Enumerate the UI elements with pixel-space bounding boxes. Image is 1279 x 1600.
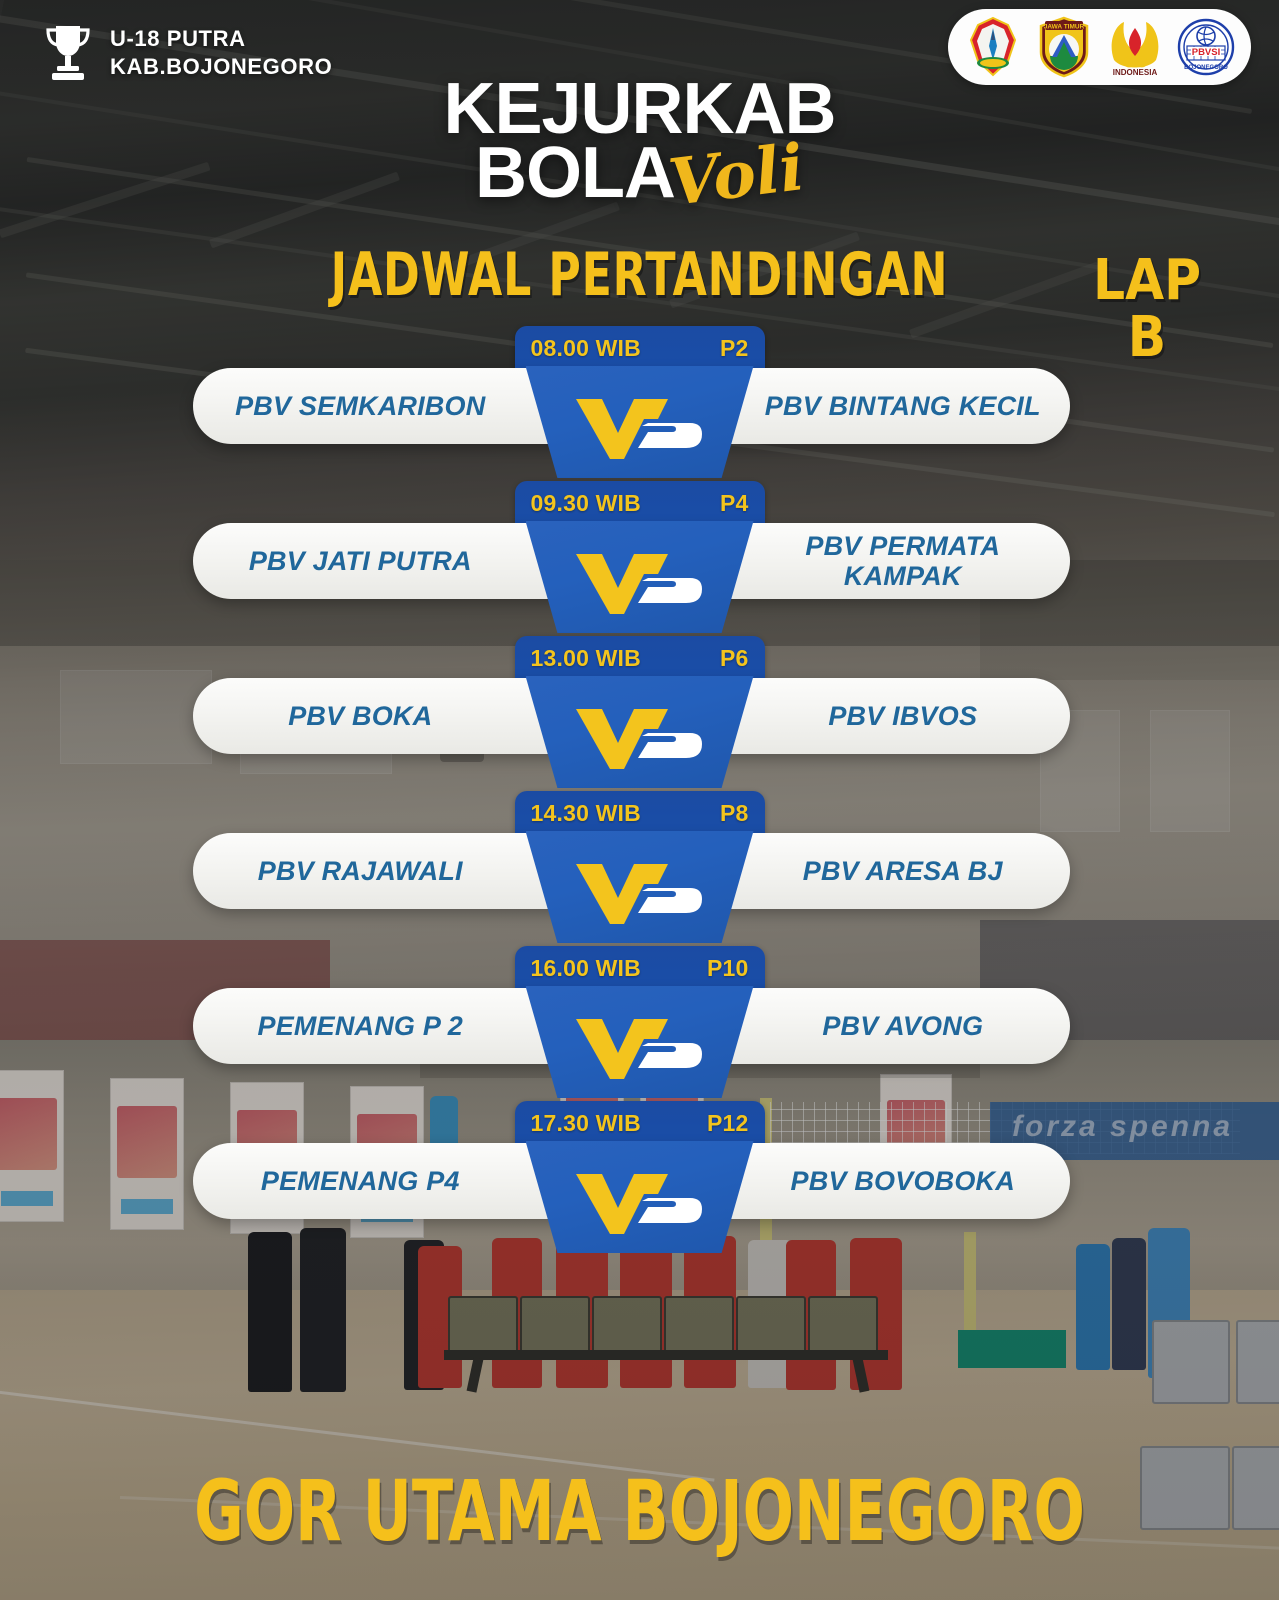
match-tab: 16.00 WIB P10 <box>515 946 765 990</box>
vs-badge <box>526 1141 754 1253</box>
category-line-2: KAB.BOJONEGORO <box>110 53 332 81</box>
match-row[interactable]: 09.30 WIB P4 PBV JATI PUTRA PBV PERMATA … <box>0 481 1279 636</box>
match-time: 09.30 WIB <box>531 490 641 517</box>
vs-badge <box>526 676 754 788</box>
match-tab: 14.30 WIB P8 <box>515 791 765 835</box>
vs-logo-icon <box>574 854 706 928</box>
match-row[interactable]: 13.00 WIB P6 PBV BOKA PBV IBVOS <box>0 636 1279 791</box>
svg-text:BOJONEGORO: BOJONEGORO <box>1184 65 1228 71</box>
match-tab: 08.00 WIB P2 <box>515 326 765 370</box>
logo-pbvsi-bojonegoro: PBVSI BOJONEGORO <box>1177 16 1235 78</box>
match-time: 16.00 WIB <box>531 955 641 982</box>
svg-text:INDONESIA: INDONESIA <box>1113 68 1158 77</box>
vs-badge <box>526 521 754 633</box>
title-line-2: BOLA <box>475 140 675 208</box>
logo-jawa-timur: JAWA TIMUR <box>1035 16 1093 78</box>
svg-text:PBVSI: PBVSI <box>1192 47 1221 58</box>
vs-logo-icon <box>574 1009 706 1083</box>
vs-logo-icon <box>574 699 706 773</box>
logo-kabupaten-bojonegoro <box>964 16 1022 78</box>
match-time: 13.00 WIB <box>531 645 641 672</box>
trophy-icon <box>40 22 96 84</box>
match-tab: 09.30 WIB P4 <box>515 481 765 525</box>
venue-name: GOR UTAMA BOJONEGORO <box>128 1462 1151 1560</box>
match-code: P2 <box>720 335 749 362</box>
match-schedule-list: 08.00 WIB P2 PBV SEMKARIBON PBV BINTANG … <box>0 326 1279 1256</box>
match-row[interactable]: 08.00 WIB P2 PBV SEMKARIBON PBV BINTANG … <box>0 326 1279 481</box>
poster-title: KEJURKAB BOLA Voli <box>0 76 1279 207</box>
match-code: P12 <box>707 1110 749 1137</box>
match-code: P6 <box>720 645 749 672</box>
title-script-voli: Voli <box>666 142 806 209</box>
svg-text:JAWA TIMUR: JAWA TIMUR <box>1044 24 1085 31</box>
category-line-1: U-18 PUTRA <box>110 25 332 53</box>
vs-badge <box>526 986 754 1098</box>
header-category: U-18 PUTRA KAB.BOJONEGORO <box>40 22 332 84</box>
match-code: P4 <box>720 490 749 517</box>
match-row[interactable]: 16.00 WIB P10 PEMENANG P 2 PBV AVONG <box>0 946 1279 1101</box>
match-code: P10 <box>707 955 749 982</box>
match-row[interactable]: 14.30 WIB P8 PBV RAJAWALI PBV ARESA BJ <box>0 791 1279 946</box>
organization-logos: JAWA TIMUR INDONESIA PBVSI <box>948 9 1251 85</box>
vs-logo-icon <box>574 389 706 463</box>
vs-logo-icon <box>574 1164 706 1238</box>
match-time: 17.30 WIB <box>531 1110 641 1137</box>
court-label: LAP <box>1093 252 1201 309</box>
match-time: 14.30 WIB <box>531 800 641 827</box>
match-time: 08.00 WIB <box>531 335 641 362</box>
schedule-subtitle: JADWAL PERTANDINGAN <box>115 240 1164 310</box>
logo-koni-indonesia: INDONESIA <box>1106 16 1164 78</box>
match-code: P8 <box>720 800 749 827</box>
vs-badge <box>526 366 754 478</box>
match-tab: 13.00 WIB P6 <box>515 636 765 680</box>
match-row[interactable]: 17.30 WIB P12 PEMENANG P4 PBV BOVOBOKA <box>0 1101 1279 1256</box>
vs-badge <box>526 831 754 943</box>
vs-logo-icon <box>574 544 706 618</box>
poster: forza spenna <box>0 0 1279 1600</box>
match-tab: 17.30 WIB P12 <box>515 1101 765 1145</box>
